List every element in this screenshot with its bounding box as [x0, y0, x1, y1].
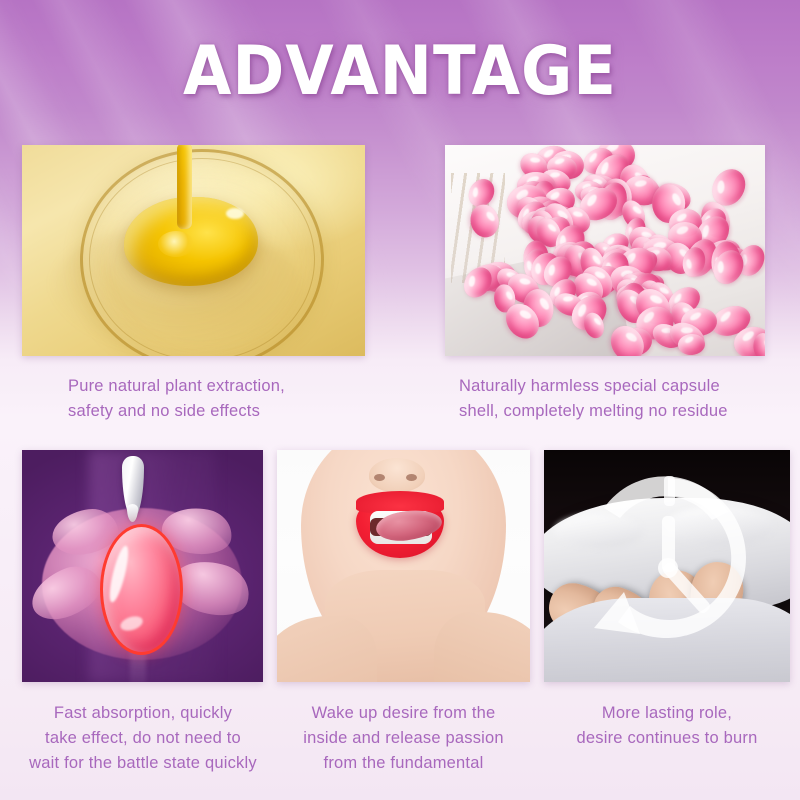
- feature-caption-pure-natural-extraction: Pure natural plant extraction, safety an…: [22, 374, 365, 424]
- duvet-fold: [664, 506, 774, 546]
- caption-line: Naturally harmless special capsule: [459, 374, 775, 399]
- caption-line: take effect, do not need to: [14, 726, 272, 751]
- feature-image-feet-in-bed-with-clock-overlay: [544, 450, 790, 682]
- caption-line: Fast absorption, quickly: [14, 701, 272, 726]
- feature-image-pink-oval-capsules-pile: [445, 145, 765, 356]
- caption-line: desire continues to burn: [544, 726, 790, 751]
- feature-image-pink-capsule-on-rose: [22, 450, 263, 682]
- feature-caption-wake-up-desire: Wake up desire from the inside and relea…: [277, 701, 530, 776]
- caption-line: Wake up desire from the: [277, 701, 530, 726]
- upper-lip: [356, 491, 444, 513]
- caption-line: wait for the battle state quickly: [14, 751, 272, 776]
- duvet-fold: [554, 514, 644, 548]
- pink-capsule: [677, 333, 706, 356]
- oil-splash-highlight: [158, 231, 194, 257]
- caption-line: safety and no side effects: [68, 399, 365, 424]
- nostril-left: [374, 474, 385, 481]
- advantage-poster: ADVANTAGE Pure natural plant extraction,…: [0, 0, 800, 800]
- feature-image-golden-oil-in-glass-dish: [22, 145, 365, 356]
- feature-caption-more-lasting-role: More lasting role, desire continues to b…: [544, 701, 790, 751]
- pouring-oil-stream: [177, 145, 192, 229]
- shoulder-left: [277, 616, 377, 682]
- caption-line: shell, completely melting no residue: [459, 399, 775, 424]
- feature-image-woman-red-lips-tongue: [277, 450, 530, 682]
- caption-line: inside and release passion: [277, 726, 530, 751]
- page-title: ADVANTAGE: [32, 36, 768, 108]
- caption-line: More lasting role,: [544, 701, 790, 726]
- caption-line: Pure natural plant extraction,: [68, 374, 365, 399]
- caption-line: from the fundamental: [277, 751, 530, 776]
- shoulder-right: [434, 612, 530, 682]
- nostril-right: [406, 474, 417, 481]
- large-pink-capsule: [100, 524, 183, 655]
- bed-sheet: [544, 598, 790, 682]
- feature-caption-harmless-capsule-shell: Naturally harmless special capsule shell…: [445, 374, 775, 424]
- feature-caption-fast-absorption: Fast absorption, quickly take effect, do…: [14, 701, 272, 776]
